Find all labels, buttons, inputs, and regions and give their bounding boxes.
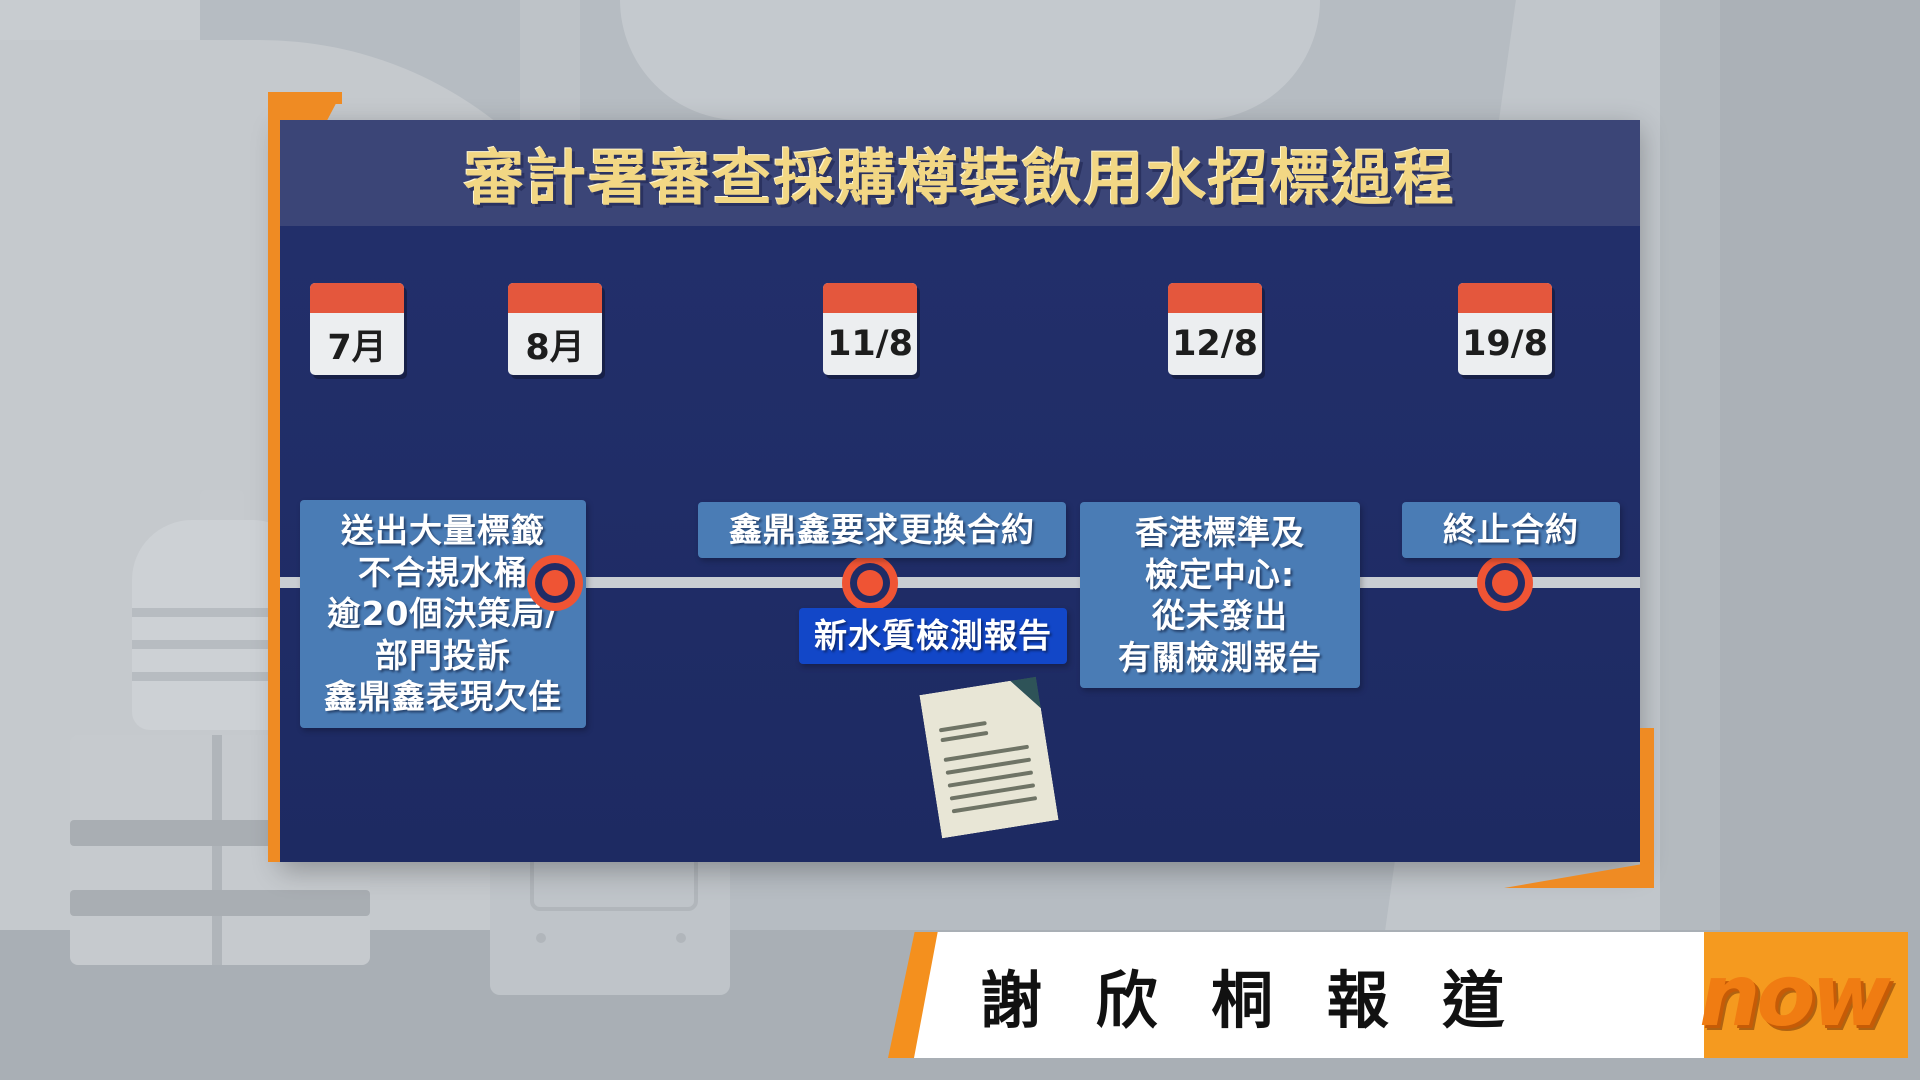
event-box-3b-text: 新水質檢測報告 — [799, 608, 1067, 664]
background-vertical-stripe-2 — [1660, 0, 1720, 1080]
appliance-dot-1 — [536, 933, 546, 943]
calendar-card-5: 19/8 — [1458, 283, 1552, 375]
calendar-card-4: 12/8 — [1168, 283, 1262, 375]
calendar-date-label: 12/8 — [1168, 313, 1262, 375]
calendar-date-label: 8月 — [508, 313, 602, 375]
timeline-dot-3[interactable] — [842, 555, 898, 611]
board-header: 審計署審查採購樽裝飲用水招標過程 — [280, 120, 1640, 226]
timeline-dot-icon — [1477, 555, 1533, 611]
calendar-card-2: 8月 — [508, 283, 602, 375]
timeline-dot-5[interactable] — [1477, 555, 1533, 611]
event-box-1-text: 送出大量標籤 不合規水桶 逾20個決策局/ 部門投訴 鑫鼎鑫表現欠佳 — [300, 500, 586, 728]
infographic-board: 審計署審查採購樽裝飲用水招標過程 7月 送出大量標籤 不合規水桶 逾20個決策局… — [280, 120, 1640, 862]
lower-third-banner: 謝 欣 桐 報 道 now — [888, 932, 1908, 1058]
calendar-header-strip — [1168, 283, 1262, 313]
calendar-card-1: 7月 — [310, 283, 404, 375]
calendar-date-label: 7月 — [310, 313, 404, 375]
event-box-4-text: 香港標準及 檢定中心: 從未發出 有關檢測報告 — [1080, 502, 1360, 688]
calendar-date-label: 11/8 — [823, 313, 917, 375]
event-box-5[interactable]: 終止合約 — [1402, 502, 1620, 558]
reporter-credit: 謝 欣 桐 報 道 — [980, 932, 1520, 1058]
calendar-icon: 19/8 — [1458, 283, 1552, 375]
event-box-1[interactable]: 送出大量標籤 不合規水桶 逾20個決策局/ 部門投訴 鑫鼎鑫表現欠佳 — [300, 500, 586, 728]
timeline-dot-icon — [527, 555, 583, 611]
calendar-icon: 11/8 — [823, 283, 917, 375]
calendar-icon: 7月 — [310, 283, 404, 375]
calendar-header-strip — [508, 283, 602, 313]
document-icon — [919, 677, 1058, 839]
calendar-icon: 8月 — [508, 283, 602, 375]
event-box-3a[interactable]: 鑫鼎鑫要求更換合約 — [698, 502, 1066, 558]
timeline-dot-icon — [842, 555, 898, 611]
event-box-4[interactable]: 香港標準及 檢定中心: 從未發出 有關檢測報告 — [1080, 502, 1360, 688]
now-logo: now — [1688, 946, 1898, 1046]
cooler-divider — [212, 735, 222, 965]
calendar-date-label: 19/8 — [1458, 313, 1552, 375]
event-box-5-text: 終止合約 — [1402, 502, 1620, 558]
background-soft-highlight — [620, 0, 1320, 120]
calendar-header-strip — [1458, 283, 1552, 313]
calendar-card-3: 11/8 — [823, 283, 917, 375]
timeline-dot-2[interactable] — [527, 555, 583, 611]
event-box-3a-text: 鑫鼎鑫要求更換合約 — [698, 502, 1066, 558]
calendar-icon: 12/8 — [1168, 283, 1262, 375]
board-accent-left-edge — [268, 92, 280, 862]
cooler-stripe-2 — [70, 890, 370, 916]
event-box-3b[interactable]: 新水質檢測報告 — [799, 608, 1067, 664]
page-title: 審計署審查採購樽裝飲用水招標過程 — [464, 130, 1456, 217]
calendar-header-strip — [823, 283, 917, 313]
calendar-header-strip — [310, 283, 404, 313]
appliance-dot-2 — [676, 933, 686, 943]
